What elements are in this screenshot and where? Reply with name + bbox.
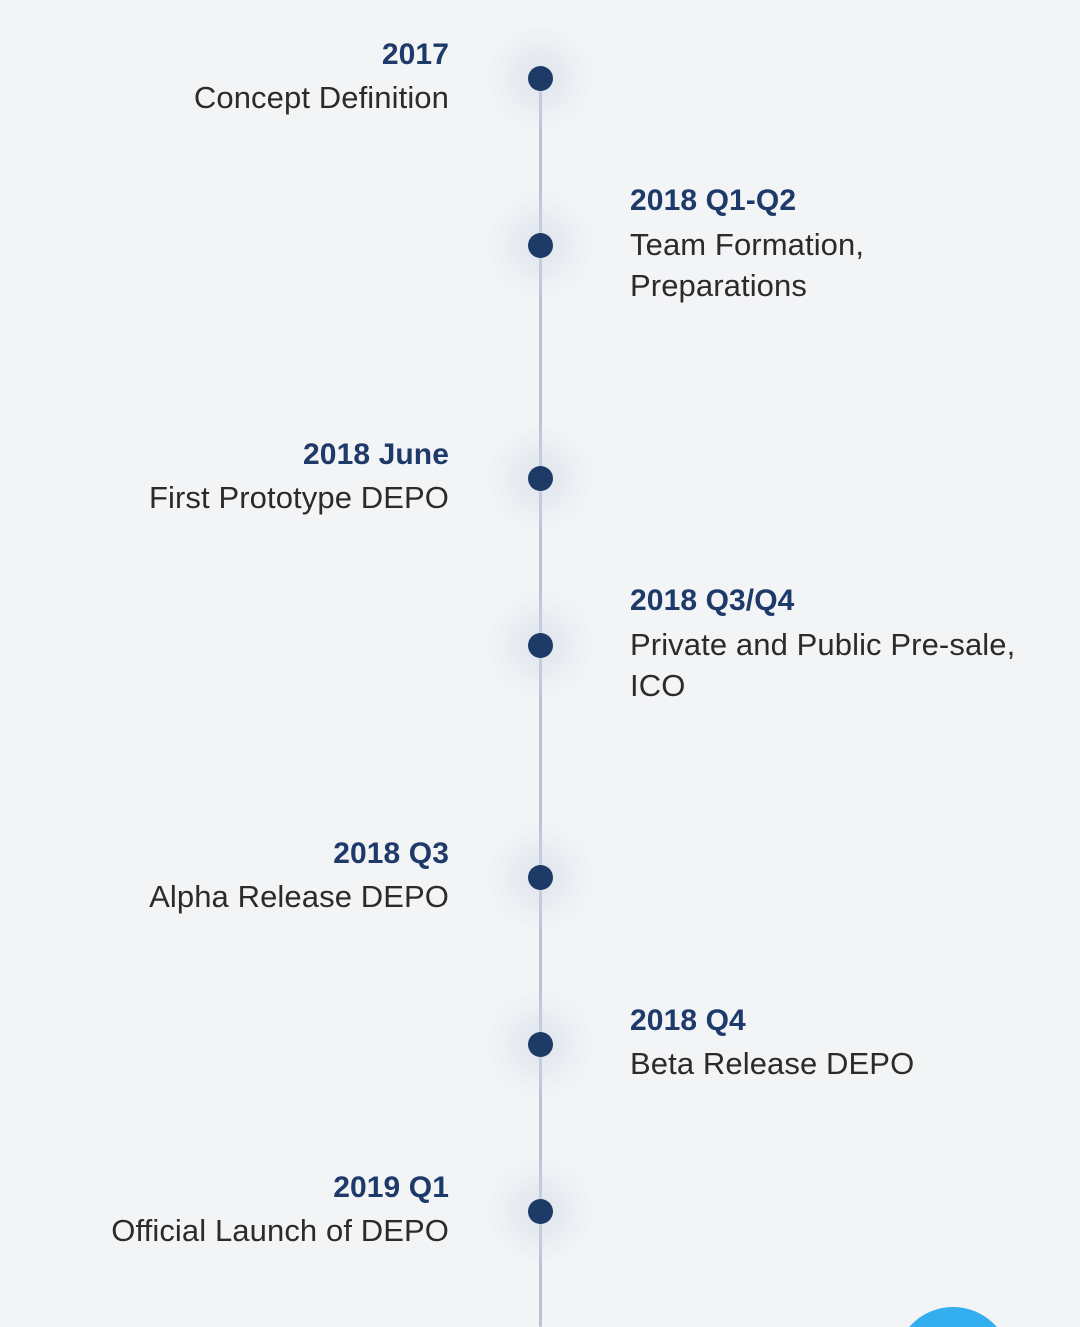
milestone-node-dot[interactable] [528,66,553,91]
milestone-detail: Concept Definition [29,77,449,118]
milestone-node-dot[interactable] [528,633,553,658]
milestone-period: 2018 Q4 [630,1004,1030,1039]
support-chat-bubble[interactable] [895,1307,1011,1327]
milestone-period: 2019 Q1 [29,1171,449,1206]
milestone-text-block: 2018 Q3Alpha Release DEPO [29,837,449,918]
milestone-detail: Team Formation, Preparations [630,224,1030,306]
milestone-node-dot[interactable] [528,1199,553,1224]
milestone-period: 2018 Q1-Q2 [630,184,1030,219]
milestone-detail: First Prototype DEPO [29,477,449,518]
milestone-period: 2018 Q3 [29,837,449,872]
milestone-detail: Beta Release DEPO [630,1043,1030,1084]
milestone-text-block: 2018 JuneFirst Prototype DEPO [29,438,449,519]
milestone-text-block: 2018 Q3/Q4Private and Public Pre-sale, I… [630,584,1030,706]
milestone-node-dot[interactable] [528,865,553,890]
milestone-node-dot[interactable] [528,1032,553,1057]
milestone-detail: Alpha Release DEPO [29,876,449,917]
timeline-axis [539,78,542,1327]
milestone-node-dot[interactable] [528,466,553,491]
milestone-detail: Official Launch of DEPO [29,1210,449,1251]
milestone-text-block: 2017Concept Definition [29,38,449,119]
milestone-text-block: 2018 Q1-Q2Team Formation, Preparations [630,184,1030,306]
milestone-text-block: 2019 Q1Official Launch of DEPO [29,1171,449,1252]
milestone-period: 2017 [29,38,449,73]
milestone-node-dot[interactable] [528,233,553,258]
milestone-detail: Private and Public Pre-sale, ICO [630,624,1030,706]
roadmap-timeline: 2017Concept Definition2018 Q1-Q2Team For… [0,0,1080,1327]
milestone-period: 2018 June [29,438,449,473]
milestone-text-block: 2018 Q4Beta Release DEPO [630,1004,1030,1085]
milestone-period: 2018 Q3/Q4 [630,584,1030,619]
